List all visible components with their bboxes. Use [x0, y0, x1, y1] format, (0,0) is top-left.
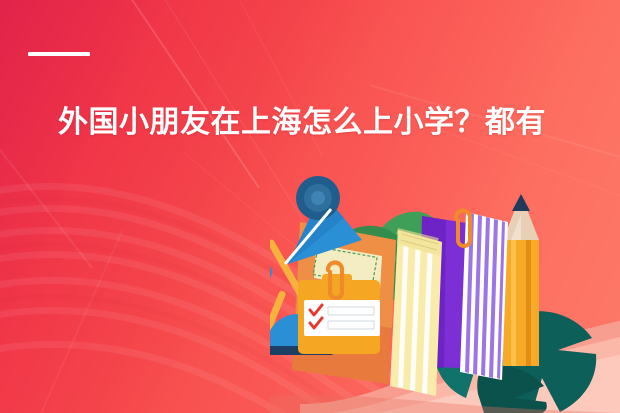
school-supplies-illustration — [270, 170, 620, 413]
page-title: 外国小朋友在上海怎么上小学？都有 — [58, 104, 546, 142]
yellow-striped-notebook-icon — [390, 228, 442, 396]
white-striped-book-icon — [460, 212, 508, 380]
pencil-icon — [503, 194, 539, 366]
promo-banner: 外国小朋友在上海怎么上小学？都有 — [0, 0, 620, 413]
title-divider — [28, 52, 90, 56]
